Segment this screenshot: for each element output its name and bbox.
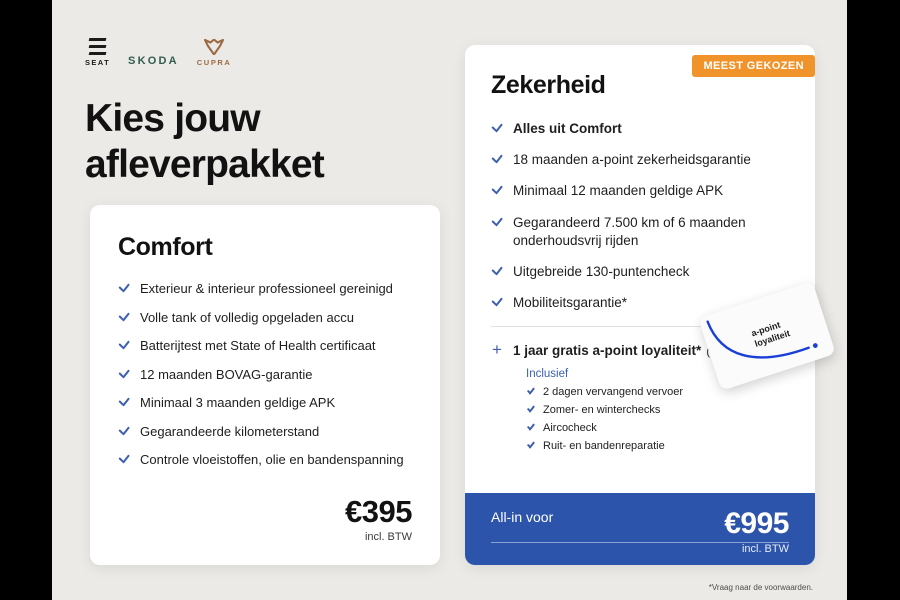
check-icon (526, 423, 535, 432)
zekerheid-price: €995 (724, 509, 789, 539)
feature-text: Batterijtest met State of Health certifi… (140, 337, 376, 355)
loyalty-title: 1 jaar gratis a-point loyaliteit* (513, 343, 701, 358)
check-icon (526, 405, 535, 414)
list-item: 18 maanden a-point zekerheidsgarantie (491, 151, 789, 169)
list-item: Gegarandeerde kilometerstand (118, 423, 412, 441)
feature-text: Exterieur & interieur professioneel gere… (140, 280, 393, 298)
seat-wordmark: SEAT (85, 58, 110, 67)
list-item: Aircocheck (526, 422, 789, 434)
check-icon (118, 425, 130, 437)
list-item: Alles uit Comfort (491, 120, 789, 138)
brand-logo-row: SEAT SKODA CUPRA (85, 38, 231, 67)
feature-text: Minimaal 12 maanden geldige APK (513, 182, 723, 200)
zekerheid-feature-list: Alles uit Comfort18 maanden a-point zeke… (491, 120, 789, 313)
zekerheid-price-block: €995 incl. BTW (724, 509, 789, 555)
feature-text: Minimaal 3 maanden geldige APK (140, 394, 335, 412)
check-icon (118, 453, 130, 465)
list-item: Controle vloeistoffen, olie en bandenspa… (118, 451, 412, 469)
feature-text: Uitgebreide 130-puntencheck (513, 263, 689, 281)
letterbox-bar-right (847, 0, 900, 600)
list-item: Zomer- en winterchecks (526, 404, 789, 416)
zekerheid-body: MEEST GEKOZEN Zekerheid Alles uit Comfor… (465, 45, 815, 452)
footer-rule (491, 542, 789, 543)
seat-emblem-icon (89, 38, 106, 55)
list-item: Ruit- en bandenreparatie (526, 440, 789, 452)
loyalty-item-text: 2 dagen vervangend vervoer (543, 386, 683, 398)
zekerheid-footer: All-in voor €995 incl. BTW (465, 493, 815, 565)
check-icon (491, 184, 503, 196)
list-item: Batterijtest met State of Health certifi… (118, 337, 412, 355)
check-icon (526, 387, 535, 396)
list-item: 2 dagen vervangend vervoer (526, 386, 789, 398)
skoda-logo-icon: SKODA (128, 55, 179, 67)
skoda-wordmark: SKODA (128, 55, 179, 67)
check-icon (118, 368, 130, 380)
page-title: Kies jouw afleverpakket (85, 96, 324, 187)
comfort-price-block: €395 incl. BTW (345, 496, 412, 543)
package-card-comfort[interactable]: Comfort Exterieur & interieur profession… (90, 205, 440, 565)
list-item: Uitgebreide 130-puntencheck (491, 263, 789, 281)
zekerheid-price-note: incl. BTW (724, 543, 789, 555)
list-item: Volle tank of volledig opgeladen accu (118, 309, 412, 327)
check-icon (526, 441, 535, 450)
page-title-line-1: Kies jouw (85, 97, 260, 140)
loyalty-item-text: Zomer- en winterchecks (543, 404, 660, 416)
check-icon (491, 296, 503, 308)
status-badge: MEEST GEKOZEN (692, 55, 815, 77)
footer-label: All-in voor (491, 509, 553, 525)
feature-text: Gegarandeerde kilometerstand (140, 423, 319, 441)
content-canvas: SEAT SKODA CUPRA Kies jouw afleverpakket… (52, 0, 847, 600)
cupra-logo-icon: CUPRA (197, 39, 232, 67)
cupra-emblem-icon (204, 39, 224, 55)
list-item: Minimaal 3 maanden geldige APK (118, 394, 412, 412)
feature-text: Alles uit Comfort (513, 120, 622, 138)
letterbox-bar-left (0, 0, 52, 600)
comfort-feature-list: Exterieur & interieur professioneel gere… (118, 280, 412, 469)
check-icon (118, 311, 130, 323)
package-card-zekerheid[interactable]: MEEST GEKOZEN Zekerheid Alles uit Comfor… (465, 45, 815, 565)
feature-text: Gegarandeerd 7.500 km of 6 maanden onder… (513, 214, 789, 250)
comfort-title: Comfort (118, 233, 412, 262)
check-icon (118, 282, 130, 294)
list-item: Minimaal 12 maanden geldige APK (491, 182, 789, 200)
list-item: 12 maanden BOVAG-garantie (118, 366, 412, 384)
loyalty-item-list: 2 dagen vervangend vervoerZomer- en wint… (526, 386, 789, 452)
seat-logo-icon: SEAT (85, 38, 110, 67)
footnote-text: *Vraag naar de voorwaarden. (709, 583, 813, 592)
feature-text: 18 maanden a-point zekerheidsgarantie (513, 151, 751, 169)
screenshot-stage: SEAT SKODA CUPRA Kies jouw afleverpakket… (0, 0, 900, 600)
plus-icon: + (491, 341, 503, 358)
list-item: Gegarandeerd 7.500 km of 6 maanden onder… (491, 214, 789, 250)
comfort-price-note: incl. BTW (345, 531, 412, 543)
check-icon (118, 396, 130, 408)
check-icon (491, 216, 503, 228)
check-icon (491, 122, 503, 134)
check-icon (491, 265, 503, 277)
loyalty-item-text: Aircocheck (543, 422, 597, 434)
feature-text: Controle vloeistoffen, olie en bandenspa… (140, 451, 404, 469)
page-title-line-2: afleverpakket (85, 143, 324, 186)
feature-text: 12 maanden BOVAG-garantie (140, 366, 312, 384)
feature-text: Mobiliteitsgarantie* (513, 294, 627, 312)
check-icon (491, 153, 503, 165)
check-icon (118, 339, 130, 351)
list-item: Exterieur & interieur professioneel gere… (118, 280, 412, 298)
comfort-price: €395 (345, 496, 412, 527)
loyalty-item-text: Ruit- en bandenreparatie (543, 440, 665, 452)
feature-text: Volle tank of volledig opgeladen accu (140, 309, 354, 327)
cupra-wordmark: CUPRA (197, 58, 232, 67)
